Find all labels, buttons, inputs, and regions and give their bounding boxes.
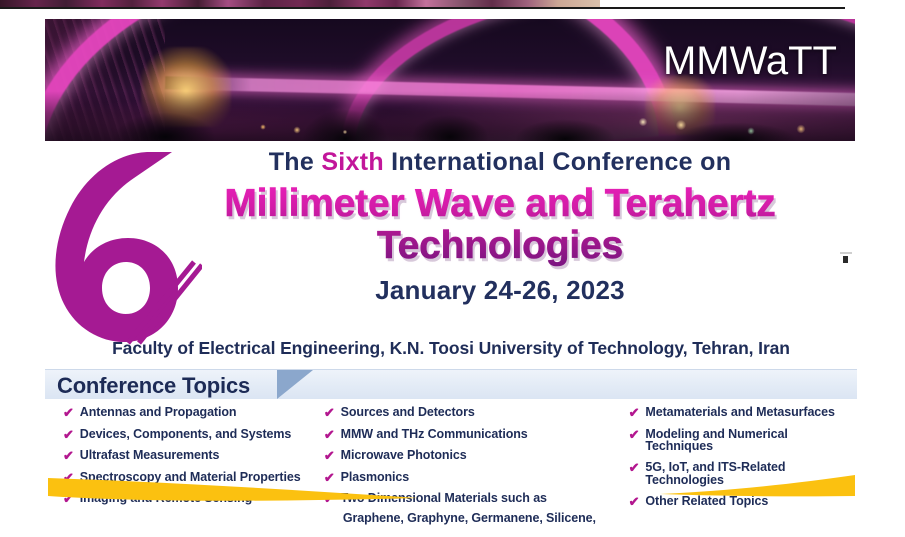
check-icon: ✔ [324, 406, 335, 419]
conference-line: The Sixth International Conference on [150, 148, 850, 177]
headline-block: The Sixth International Conference on Mi… [150, 148, 850, 306]
banner-image-sliver [0, 0, 600, 7]
topics-column-1: ✔ Antennas and Propagation ✔ Devices, Co… [45, 402, 314, 533]
list-item-label: Modeling and Numerical Techniques [645, 428, 857, 453]
topics-column-2: ✔ Sources and Detectors ✔ MMW and THz Co… [314, 402, 605, 533]
check-icon: ✔ [629, 428, 640, 441]
check-icon: ✔ [63, 449, 74, 462]
headline-accent-word: Sixth [321, 148, 384, 176]
page-title: Millimeter Wave and Terahertz Technologi… [150, 183, 850, 267]
list-item-label: Microwave Photonics [341, 449, 467, 462]
list-item-label: MMW and THz Communications [341, 428, 528, 441]
list-item: ✔ Sources and Detectors [324, 406, 605, 419]
list-item-label: Sources and Detectors [341, 406, 475, 419]
list-item-label: Metamaterials and Metasurfaces [645, 406, 834, 419]
arrow-right-icon [277, 370, 313, 399]
scan-artifact-dot [843, 256, 848, 263]
list-item: ✔ Ultrafast Measurements [63, 449, 314, 462]
conference-poster: MMWaTT The Sixth International Conferenc… [0, 0, 905, 537]
check-icon: ✔ [63, 428, 74, 441]
check-icon: ✔ [63, 406, 74, 419]
check-icon: ✔ [629, 461, 640, 474]
city-lights [45, 113, 855, 139]
list-item-label: Ultrafast Measurements [80, 449, 220, 462]
yellow-wave-right-decoration [660, 472, 855, 498]
check-icon: ✔ [629, 495, 640, 508]
headline-suffix: International Conference on [384, 148, 731, 176]
list-item-label: Devices, Components, and Systems [80, 428, 291, 441]
list-item-continuation: Graphene, Graphyne, Germanene, Silicene, [343, 512, 605, 525]
conference-topics-label: Conference Topics [57, 373, 250, 399]
horizontal-rule [0, 7, 845, 9]
mmwatt-logo-text: MMWaTT [663, 41, 837, 81]
topics-columns: ✔ Antennas and Propagation ✔ Devices, Co… [45, 402, 857, 533]
list-item: ✔ Metamaterials and Metasurfaces [629, 406, 857, 419]
venue-text: Faculty of Electrical Engineering, K.N. … [45, 338, 857, 359]
list-item: ✔ MMW and THz Communications [324, 428, 605, 441]
list-item: ✔ Antennas and Propagation [63, 406, 314, 419]
check-icon: ✔ [629, 406, 640, 419]
list-item-label: Graphene, Graphyne, Germanene, Silicene, [343, 512, 596, 525]
check-icon: ✔ [324, 428, 335, 441]
check-icon: ✔ [324, 449, 335, 462]
conference-topics-banner: Conference Topics [45, 369, 857, 399]
list-item: ✔ Microwave Photonics [324, 449, 605, 462]
banner-image: MMWaTT [45, 19, 855, 141]
yellow-wave-left-decoration [48, 478, 418, 504]
headline-prefix: The [269, 148, 322, 176]
list-item: ✔ Devices, Components, and Systems [63, 428, 314, 441]
conference-dates: January 24-26, 2023 [150, 275, 850, 306]
list-item: ✔ Modeling and Numerical Techniques [629, 428, 857, 453]
list-item-label: Antennas and Propagation [80, 406, 237, 419]
scan-artifact-line [840, 252, 852, 254]
topics-column-3: ✔ Metamaterials and Metasurfaces ✔ Model… [605, 402, 857, 533]
